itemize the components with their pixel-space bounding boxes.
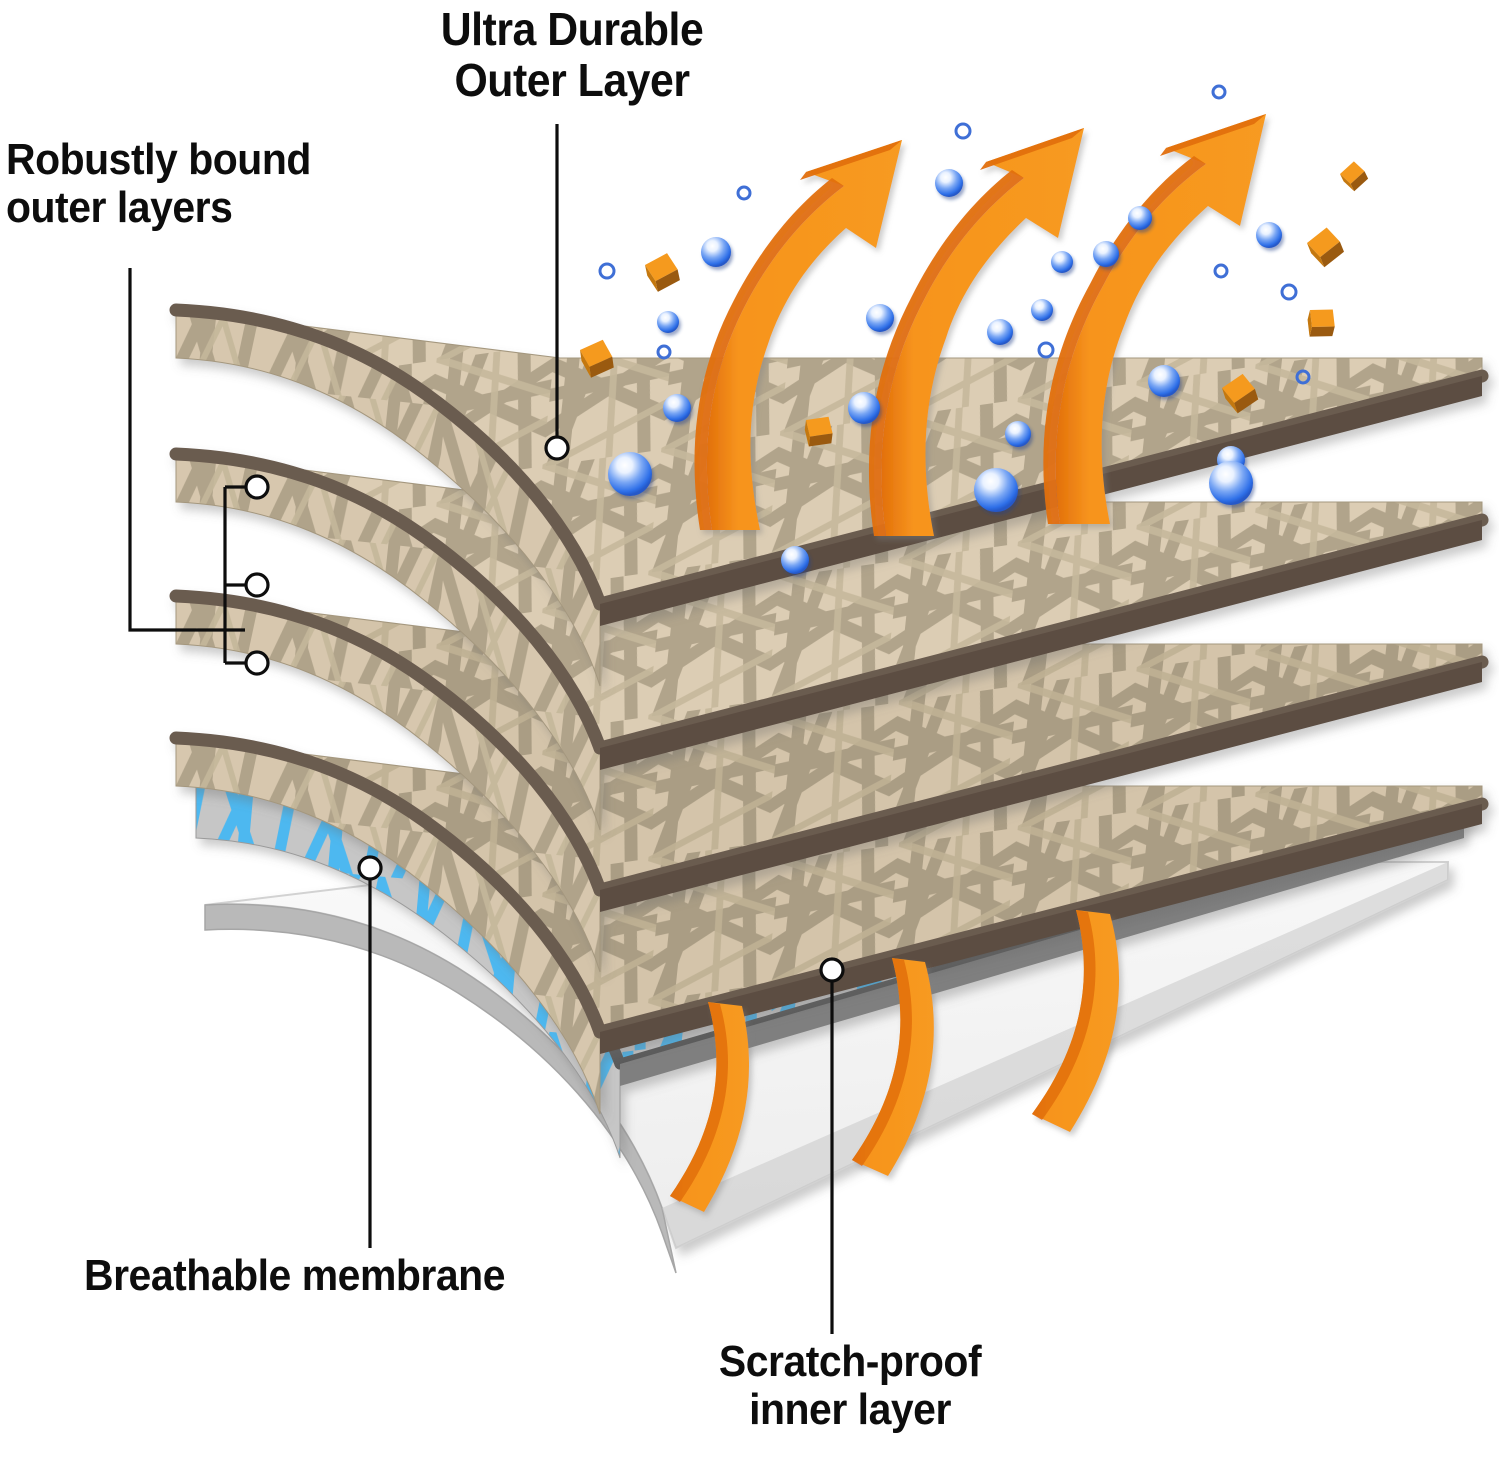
diagram-canvas: Ultra Durable Outer Layer Robustly bound… xyxy=(0,0,1499,1463)
label-ultra-durable-outer-layer: Ultra Durable Outer Layer xyxy=(405,4,740,105)
label-scratch-proof-inner-layer: Scratch-proof inner layer xyxy=(673,1338,1026,1435)
marker-bound-1 xyxy=(246,476,268,498)
marker-scratch xyxy=(821,959,843,981)
label-breathable-membrane: Breathable membrane xyxy=(84,1252,661,1300)
label-robustly-bound-outer-layers: Robustly bound outer layers xyxy=(6,136,406,233)
marker-bound-2 xyxy=(246,574,268,596)
marker-bound-3 xyxy=(246,652,268,674)
marker-membrane xyxy=(359,857,381,879)
marker-outer-layer xyxy=(546,437,568,459)
